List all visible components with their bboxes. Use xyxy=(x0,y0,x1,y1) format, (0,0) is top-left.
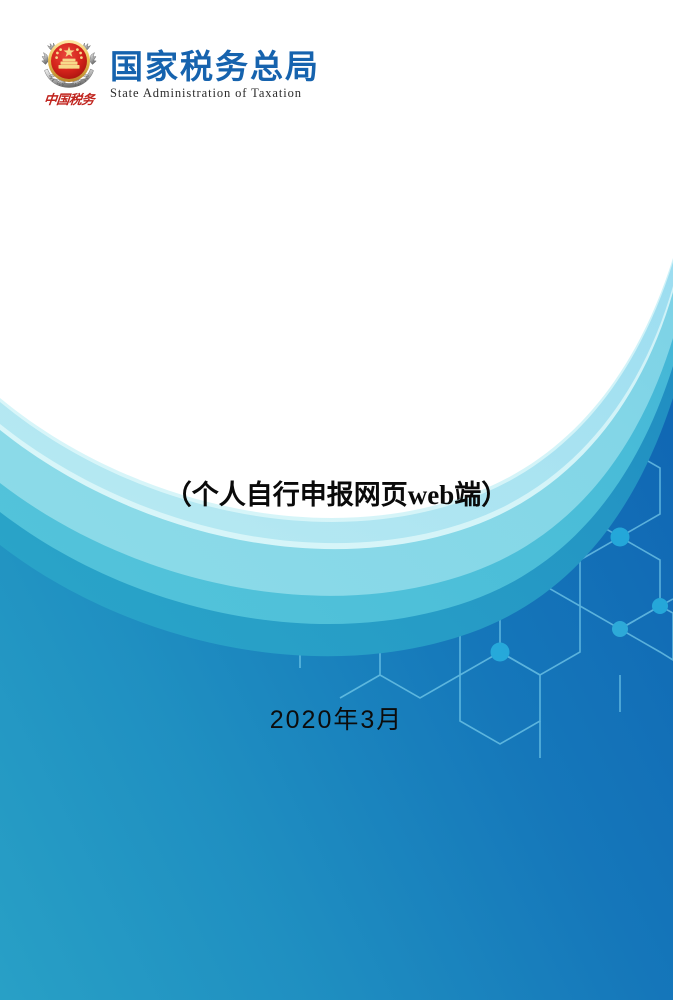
logo-text-block: 国家税务总局 State Administration of Taxation xyxy=(110,36,320,101)
document-title: 2019年度个人所得税综合所得 年度汇算申报操作指引 xyxy=(0,276,673,432)
title-line-2: 年度汇算申报操作指引 xyxy=(10,358,663,432)
emblem-caption: 中国税务 xyxy=(43,93,94,106)
document-subtitle: （个人自行申报网页web端） xyxy=(0,473,673,512)
title-line-1: 2019年度个人所得税综合所得 xyxy=(10,276,663,350)
taxation-logo: 中国税务 国家税务总局 State Administration of Taxa… xyxy=(38,36,320,106)
emblem-wrap: 中国税务 xyxy=(38,36,100,106)
organization-name-cn: 国家税务总局 xyxy=(110,50,320,84)
china-taxation-emblem-icon xyxy=(41,36,97,92)
publication-date: 2020年3月 xyxy=(0,700,673,736)
organization-name-en: State Administration of Taxation xyxy=(110,86,320,101)
document-cover: 中国税务 国家税务总局 State Administration of Taxa… xyxy=(0,0,673,1000)
